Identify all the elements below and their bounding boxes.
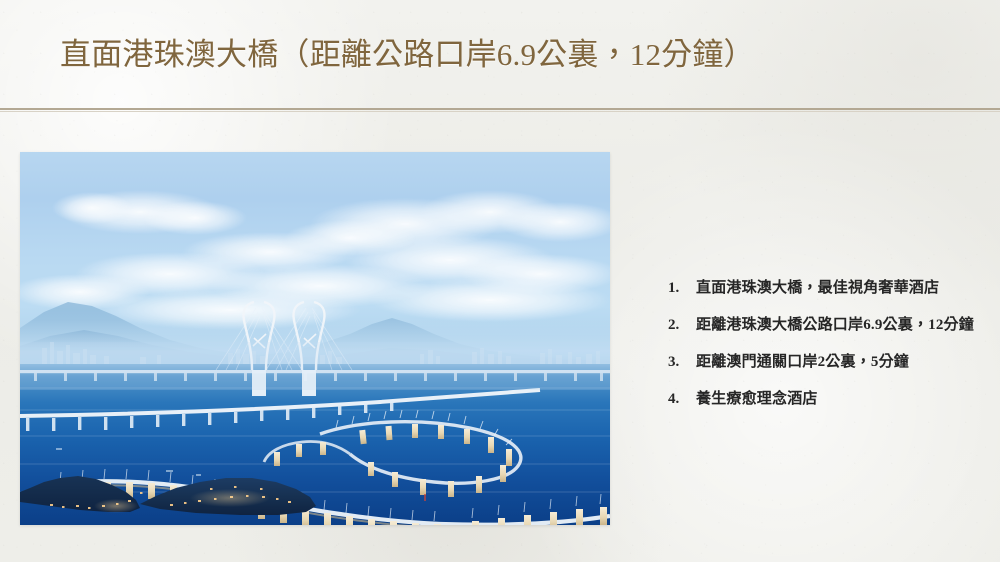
title-block: 直面港珠澳大橋（距離公路口岸6.9公裏，12分鐘） <box>0 0 1000 110</box>
bullet-list: 1. 直面港珠澳大橋，最佳視角奢華酒店 2. 距離港珠澳大橋公路口岸6.9公裏，… <box>628 276 1000 411</box>
list-item: 1. 直面港珠澳大橋，最佳視角奢華酒店 <box>668 276 1000 300</box>
list-item-number: 3. <box>668 354 696 371</box>
list-item: 3. 距離澳門通關口岸2公裏，5分鐘 <box>668 350 1000 374</box>
bridge-photo <box>20 152 610 525</box>
list-item-number: 4. <box>668 391 696 408</box>
divider-rule-secondary <box>0 111 1000 112</box>
list-item-number: 1. <box>668 280 696 297</box>
list-item-label: 直面港珠澳大橋，最佳視角奢華酒店 <box>696 276 939 300</box>
list-item: 2. 距離港珠澳大橋公路口岸6.9公裏，12分鐘 <box>668 313 1000 337</box>
list-item-label: 距離澳門通關口岸2公裏，5分鐘 <box>696 350 909 374</box>
divider-rule-primary <box>0 108 1000 110</box>
list-item-number: 2. <box>668 317 696 334</box>
list-item: 4. 養生療愈理念酒店 <box>668 387 1000 411</box>
list-item-label: 距離港珠澳大橋公路口岸6.9公裏，12分鐘 <box>696 313 974 337</box>
bridge-photo-artwork <box>20 152 610 525</box>
page-title: 直面港珠澳大橋（距離公路口岸6.9公裏，12分鐘） <box>60 34 755 76</box>
list-item-label: 養生療愈理念酒店 <box>696 387 818 411</box>
title-divider <box>0 108 1000 113</box>
buoy-marker <box>424 494 426 501</box>
slide-canvas: 直面港珠澳大橋（距離公路口岸6.9公裏，12分鐘） <box>0 0 1000 562</box>
